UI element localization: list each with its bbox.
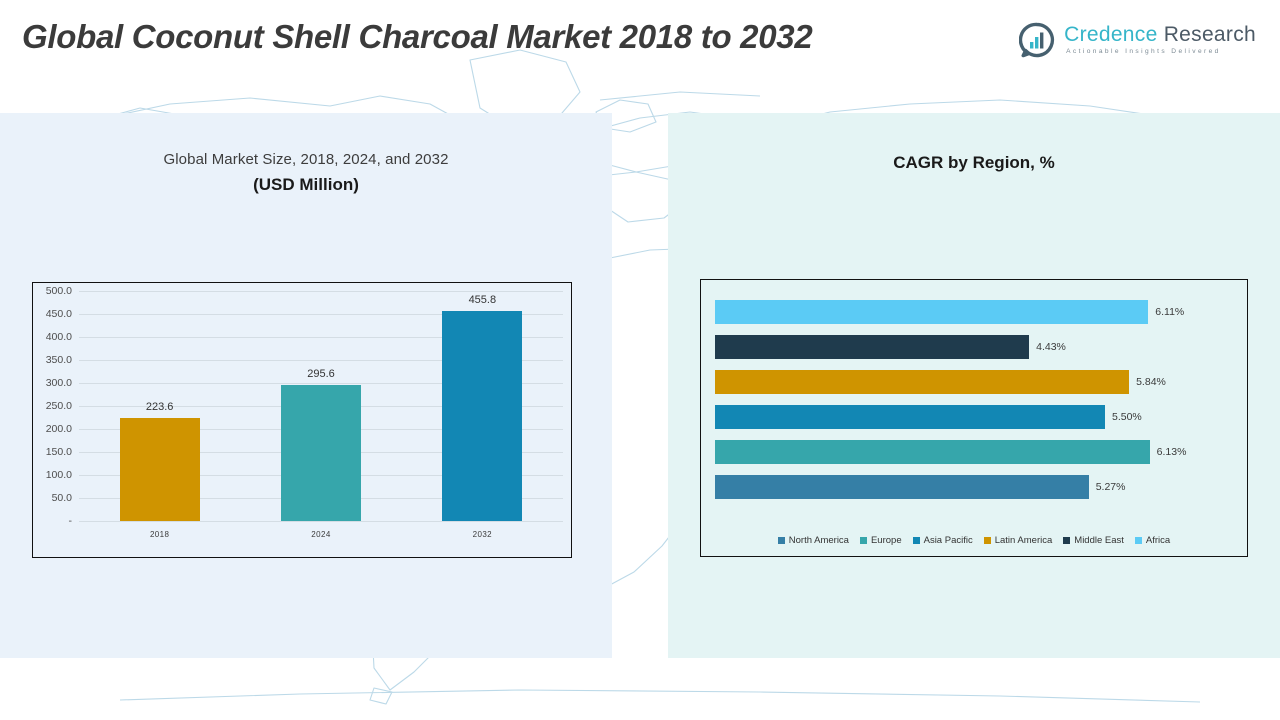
- column-bar-group: 295.62024: [281, 291, 361, 521]
- horizontal-bar: [715, 335, 1029, 359]
- legend-label: Europe: [871, 535, 902, 546]
- bar-row: 5.84%: [715, 370, 1237, 394]
- y-axis-tick-label: 250.0: [46, 400, 72, 412]
- x-axis-tick-label: 2024: [311, 530, 330, 539]
- legend-swatch-icon: [1135, 537, 1142, 544]
- legend-swatch-icon: [860, 537, 867, 544]
- x-axis-tick-label: 2018: [150, 530, 169, 539]
- legend-swatch-icon: [913, 537, 920, 544]
- bar-row: 5.27%: [715, 475, 1237, 499]
- column-chart-frame: 500.0450.0400.0350.0300.0250.0200.0150.0…: [32, 282, 572, 558]
- page-title: Global Coconut Shell Charcoal Market 201…: [22, 16, 1002, 58]
- y-axis-tick-label: 400.0: [46, 331, 72, 343]
- right-chart-title: CAGR by Region, %: [668, 153, 1280, 173]
- column-value-label: 455.8: [469, 294, 497, 306]
- bar-value-label: 5.50%: [1112, 411, 1142, 423]
- infographic-canvas: Global Coconut Shell Charcoal Market 201…: [0, 0, 1280, 720]
- cagr-by-region-chart: CAGR by Region, % 6.11%4.43%5.84%5.50%6.…: [668, 113, 1280, 658]
- y-axis-tick-label: -: [69, 515, 73, 527]
- horizontal-bar: [715, 405, 1105, 429]
- logo-tagline: Actionable Insights Delivered: [1066, 49, 1256, 56]
- horizontal-bar: [715, 300, 1148, 324]
- y-axis-tick-label: 50.0: [52, 492, 72, 504]
- legend-item[interactable]: Europe: [860, 535, 902, 546]
- x-axis-tick-label: 2032: [473, 530, 492, 539]
- y-axis-tick-label: 300.0: [46, 377, 72, 389]
- bar-value-label: 5.84%: [1136, 376, 1166, 388]
- global-market-size-chart: Global Market Size, 2018, 2024, and 2032…: [0, 113, 612, 658]
- logo-name-part1: Credence: [1064, 23, 1157, 46]
- horizontal-bar: [715, 440, 1150, 464]
- legend-swatch-icon: [984, 537, 991, 544]
- legend-item[interactable]: Asia Pacific: [913, 535, 973, 546]
- legend-label: North America: [789, 535, 849, 546]
- legend-item[interactable]: Africa: [1135, 535, 1170, 546]
- bar-row: 6.13%: [715, 440, 1237, 464]
- bar-chart-legend: North AmericaEuropeAsia PacificLatin Ame…: [701, 535, 1247, 546]
- bar-chart-plot: 6.11%4.43%5.84%5.50%6.13%5.27%: [715, 294, 1237, 504]
- legend-label: Middle East: [1074, 535, 1124, 546]
- y-axis-tick-label: 500.0: [46, 285, 72, 297]
- legend-label: Asia Pacific: [924, 535, 973, 546]
- bar-value-label: 5.27%: [1096, 481, 1126, 493]
- bar-row: 5.50%: [715, 405, 1237, 429]
- y-axis-tick-label: 200.0: [46, 423, 72, 435]
- column-chart-plot: 500.0450.0400.0350.0300.0250.0200.0150.0…: [79, 291, 563, 521]
- column-bar: [120, 418, 200, 521]
- legend-swatch-icon: [778, 537, 785, 544]
- logo-name-part2: Research: [1158, 23, 1256, 46]
- legend-swatch-icon: [1063, 537, 1070, 544]
- brand-logo: Credence Research Actionable Insights De…: [1019, 22, 1256, 58]
- y-axis-tick-label: 100.0: [46, 469, 72, 481]
- horizontal-bar: [715, 370, 1129, 394]
- column-value-label: 223.6: [146, 401, 174, 413]
- bar-value-label: 6.13%: [1157, 446, 1187, 458]
- column-bar-group: 223.62018: [120, 291, 200, 521]
- logo-text: Credence Research Actionable Insights De…: [1064, 24, 1256, 56]
- column-value-label: 295.6: [307, 368, 335, 380]
- column-bar: [281, 385, 361, 521]
- left-chart-title-line2: (USD Million): [0, 175, 612, 195]
- legend-label: Latin America: [995, 535, 1053, 546]
- bar-value-label: 4.43%: [1036, 341, 1066, 353]
- horizontal-bar: [715, 475, 1089, 499]
- header: Global Coconut Shell Charcoal Market 201…: [0, 0, 1280, 113]
- logo-company-name: Credence Research: [1064, 24, 1256, 45]
- y-axis-tick-label: 350.0: [46, 354, 72, 366]
- bar-row: 6.11%: [715, 300, 1237, 324]
- left-chart-title-line1: Global Market Size, 2018, 2024, and 2032: [0, 151, 612, 168]
- column-bar: [442, 311, 522, 521]
- bar-row: 4.43%: [715, 335, 1237, 359]
- left-chart-title: Global Market Size, 2018, 2024, and 2032…: [0, 151, 612, 195]
- legend-item[interactable]: North America: [778, 535, 849, 546]
- bar-value-label: 6.11%: [1155, 306, 1184, 318]
- legend-item[interactable]: Latin America: [984, 535, 1053, 546]
- gridline: -: [79, 521, 563, 522]
- y-axis-tick-label: 450.0: [46, 308, 72, 320]
- y-axis-tick-label: 150.0: [46, 446, 72, 458]
- legend-label: Africa: [1146, 535, 1170, 546]
- bar-chart-frame: 6.11%4.43%5.84%5.50%6.13%5.27% North Ame…: [700, 279, 1248, 557]
- bar-chart-bubble-logo-icon: [1019, 22, 1055, 58]
- legend-item[interactable]: Middle East: [1063, 535, 1124, 546]
- column-bar-group: 455.82032: [442, 291, 522, 521]
